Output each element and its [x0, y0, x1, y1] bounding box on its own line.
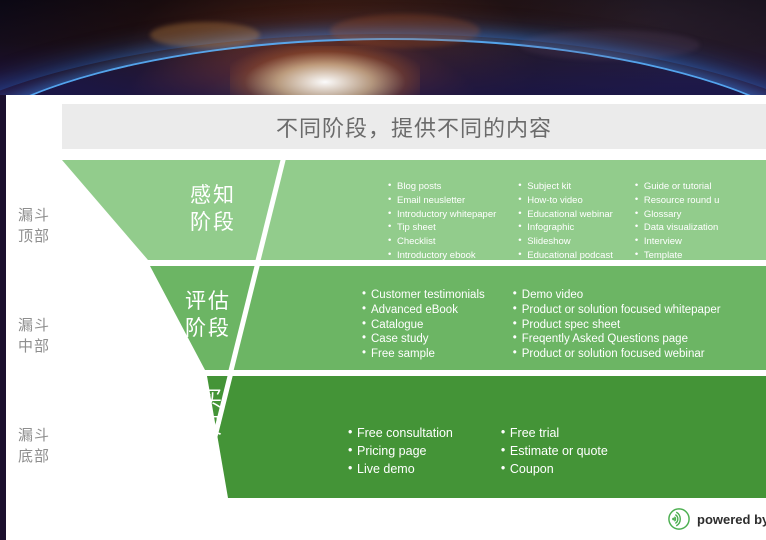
content-column: Free consultation Pricing page Live demo — [348, 424, 453, 478]
list-item: Catalogue — [362, 318, 485, 333]
funnel-stage-evaluation: 评估阶段 Customer testimonials Advanced eBoo… — [0, 266, 766, 370]
list-item: Email neusletter — [388, 194, 496, 208]
list-item: Data visualization — [635, 221, 720, 235]
list-item: Interview — [635, 235, 720, 249]
content-column: Blog posts Email neusletter Introductory… — [388, 180, 496, 263]
list-item: Introductory whitepaper — [388, 208, 496, 222]
list-item: Free consultation — [348, 424, 453, 442]
list-item: Blog posts — [388, 180, 496, 194]
list-item: Tip sheet — [388, 221, 496, 235]
stage-awareness-label: 感知阶段 — [190, 182, 236, 236]
list-item: Live demo — [348, 460, 453, 478]
list-item: Educational podcast — [518, 249, 613, 263]
list-item: Guide or tutorial — [635, 180, 720, 194]
list-item: Estimate or quote — [501, 442, 608, 460]
page-title: 不同阶段，提供不同的内容 — [276, 111, 552, 143]
list-item: Free trial — [501, 424, 608, 442]
list-item: Subject kit — [518, 180, 613, 194]
content-list: Subject kit How-to video Educational web… — [518, 180, 613, 263]
cloud-wisp-2 — [330, 14, 480, 48]
content-list: Free consultation Pricing page Live demo — [348, 424, 453, 478]
stage-evaluation-content-columns: Customer testimonials Advanced eBook Cat… — [362, 288, 749, 362]
title-bar: 不同阶段，提供不同的内容 — [62, 104, 766, 149]
sunrise-glow — [230, 46, 420, 95]
content-column: Customer testimonials Advanced eBook Cat… — [362, 288, 485, 362]
slide-canvas: 不同阶段，提供不同的内容 漏斗顶部 漏斗中部 漏斗底部 感知阶段 Blog po… — [0, 0, 766, 540]
funnel-stage-awareness: 感知阶段 Blog posts Email neusletter Introdu… — [0, 160, 766, 260]
list-item: Template — [635, 249, 720, 263]
list-item: Introductory ebook — [388, 249, 496, 263]
cloud-wisp-3 — [520, 30, 700, 60]
list-item: How-to video — [518, 194, 613, 208]
list-item: Slideshow — [518, 235, 613, 249]
radar-circle-icon — [668, 508, 690, 530]
stage-awareness-content-columns: Blog posts Email neusletter Introductory… — [388, 180, 741, 263]
list-item: Pricing page — [348, 442, 453, 460]
list-item: Educational webinar — [518, 208, 613, 222]
list-item: Coupon — [501, 460, 608, 478]
list-item: Product spec sheet — [513, 318, 721, 333]
list-item: Customer testimonials — [362, 288, 485, 303]
list-item: Product or solution focused whitepaper — [513, 303, 721, 318]
stage-evaluation-label: 评估阶段 — [185, 288, 231, 342]
content-list: Customer testimonials Advanced eBook Cat… — [362, 288, 485, 362]
content-column: Guide or tutorial Resource round u Gloss… — [635, 180, 720, 263]
stage-purchase-content-columns: Free consultation Pricing page Live demo… — [348, 424, 656, 478]
list-item: Advanced eBook — [362, 303, 485, 318]
list-item: Free sample — [362, 347, 485, 362]
list-item: Product or solution focused webinar — [513, 347, 721, 362]
funnel-stage-purchase: 购买阶段 Free consultation Pricing page Live… — [0, 376, 766, 508]
funnel-diagram: 感知阶段 Blog posts Email neusletter Introdu… — [0, 160, 766, 508]
stage-purchase-label: 购买阶段 — [178, 386, 224, 440]
list-item: Demo video — [513, 288, 721, 303]
footer-logo-text: powered by sear — [697, 512, 766, 527]
list-item: Glossary — [635, 208, 720, 222]
list-item: Checklist — [388, 235, 496, 249]
cloud-wisp-1 — [150, 22, 260, 48]
space-banner-image — [0, 0, 766, 95]
content-list: Blog posts Email neusletter Introductory… — [388, 180, 496, 263]
content-list: Demo video Product or solution focused w… — [513, 288, 721, 362]
content-column: Free trial Estimate or quote Coupon — [501, 424, 608, 478]
list-item: Case study — [362, 332, 485, 347]
content-column: Demo video Product or solution focused w… — [513, 288, 721, 362]
footer-branding: powered by sear — [668, 508, 766, 530]
content-column: Subject kit How-to video Educational web… — [518, 180, 613, 263]
list-item: Freqently Asked Questions page — [513, 332, 721, 347]
list-item: Infographic — [518, 221, 613, 235]
list-item: Resource round u — [635, 194, 720, 208]
content-list: Free trial Estimate or quote Coupon — [501, 424, 608, 478]
content-list: Guide or tutorial Resource round u Gloss… — [635, 180, 720, 263]
